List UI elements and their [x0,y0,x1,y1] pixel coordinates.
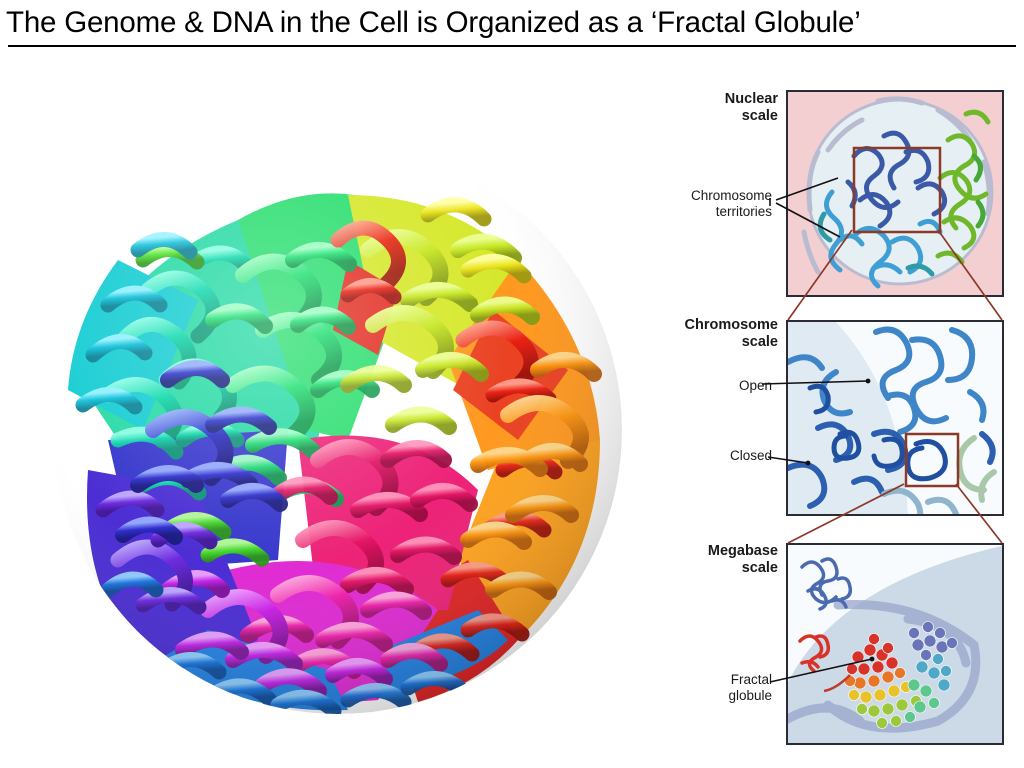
panel-megabase-scale [786,543,1004,745]
callout-chromosome-territories: Chromosome territories [620,188,772,220]
panel-title-chromosome: Chromosome scale [620,317,778,351]
panel-nuclear-scale [786,90,1004,297]
megabase-scale-illustration [788,545,1004,745]
nuclear-scale-illustration [788,92,1004,297]
panel-chromosome-scale [786,320,1004,516]
fractal-globule-svg [48,140,628,720]
slide-canvas: The Genome & DNA in the Cell is Organize… [0,0,1024,768]
callout-closed: Closed [620,448,772,464]
callout-open: Open [620,378,772,394]
panel-title-megabase: Megabase scale [620,543,778,577]
chromosome-scale-illustration [788,322,1004,516]
panel-title-nuclear: Nuclear scale [620,91,778,125]
fractal-globule-figure [48,140,628,720]
title-underline [8,45,1016,47]
callout-fractal-globule: Fractal globule [620,672,772,704]
page-title: The Genome & DNA in the Cell is Organize… [6,4,1018,42]
